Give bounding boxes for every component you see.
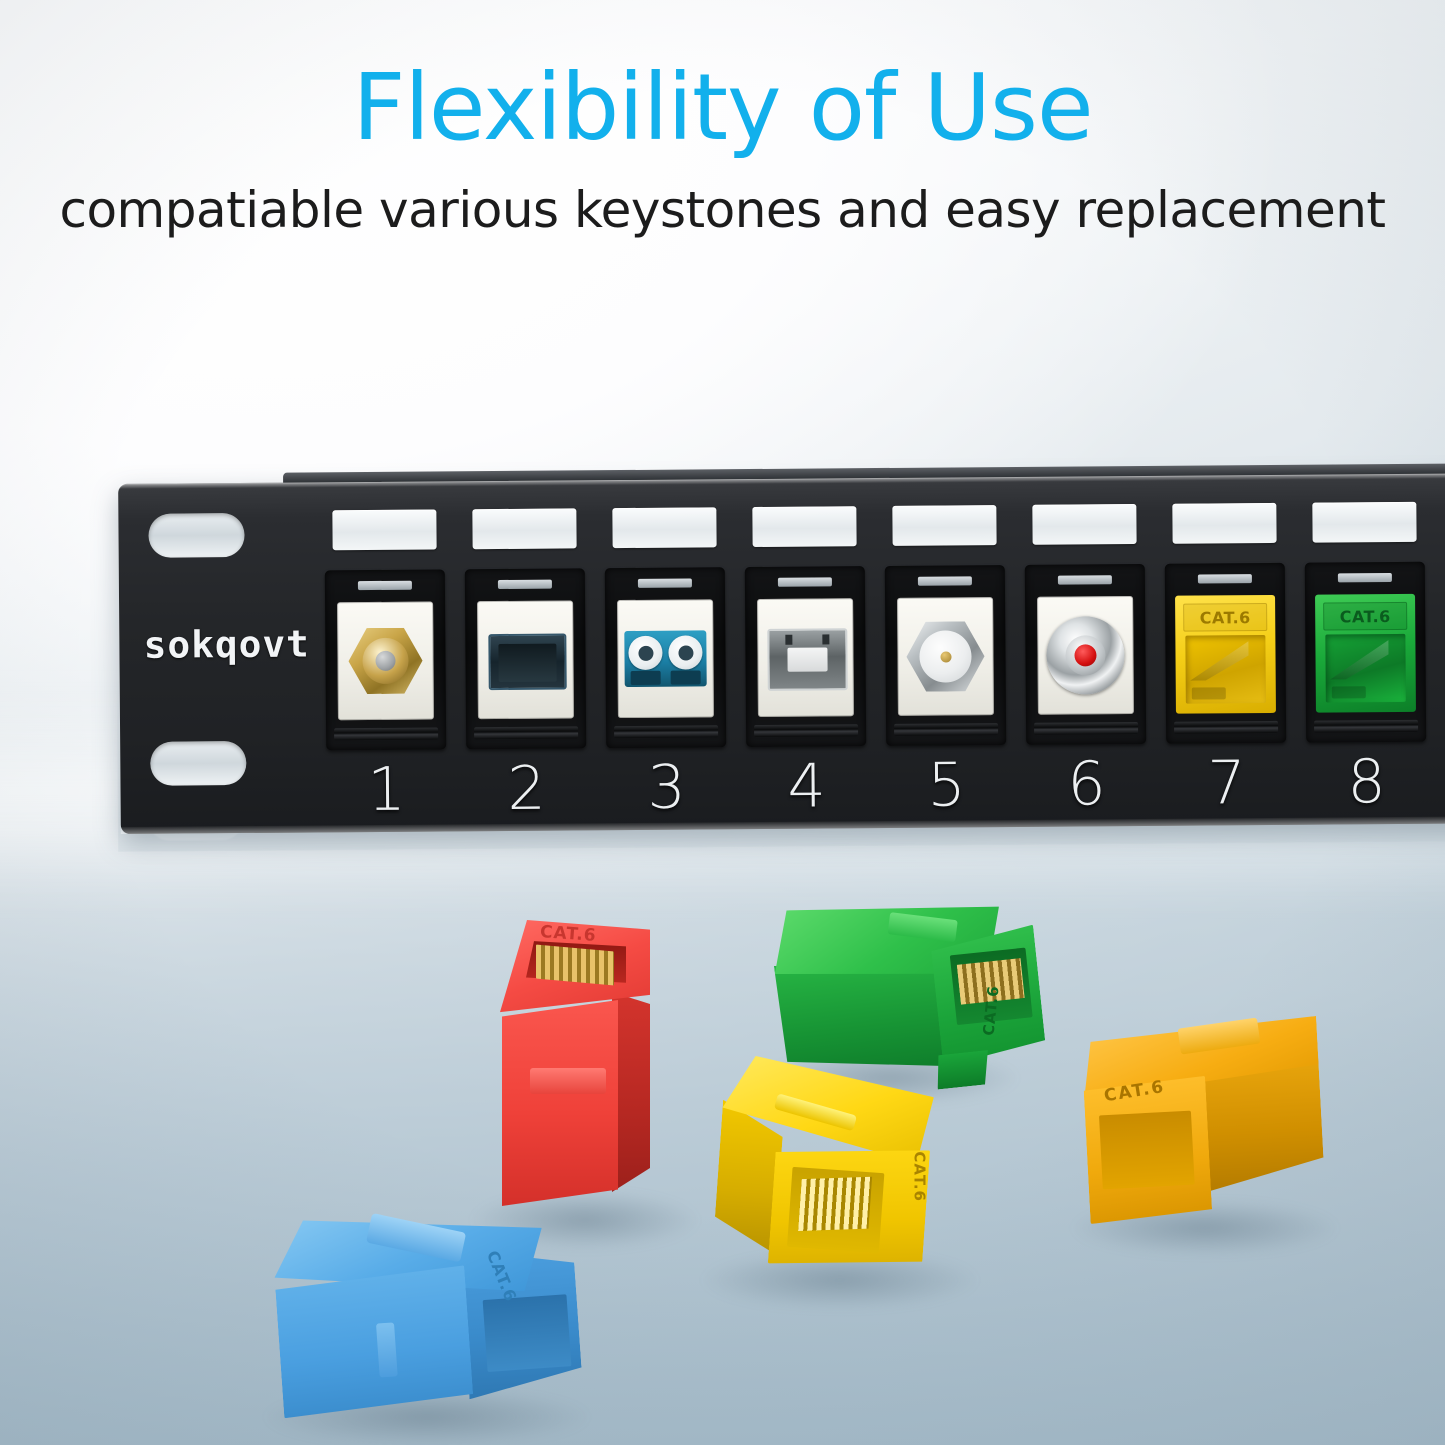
lc-adapter-body: [624, 630, 706, 687]
rack-mount-slot-top: [148, 513, 244, 558]
jack-latch-tab: [530, 1068, 606, 1094]
port-number: 1: [316, 759, 456, 820]
port-7[interactable]: CAT.6 7: [1154, 475, 1297, 826]
fiber-slot: [498, 644, 556, 682]
keystone-shell: CAT.6: [1165, 563, 1286, 744]
label-strip[interactable]: [1032, 504, 1136, 545]
lc-duplex-icon: [617, 599, 714, 718]
rca-icon: [1037, 596, 1134, 715]
patch-panel: sokqovt 1: [118, 457, 1445, 850]
coax-nut: [906, 621, 985, 692]
jack-front-face: [275, 1265, 474, 1418]
keystone-shell: [745, 566, 866, 747]
label-strip[interactable]: [472, 508, 576, 549]
sc-fiber-icon: [477, 600, 574, 719]
usb-b-body: [767, 628, 847, 691]
usb-notch-left: [785, 635, 792, 645]
label-strip[interactable]: [332, 510, 436, 551]
rj45-mouth: [483, 1294, 572, 1372]
label-strip[interactable]: [1312, 502, 1416, 543]
rj45-gold-pins: [536, 945, 614, 986]
coax-pin: [375, 651, 395, 671]
jack-side-nub: [376, 1322, 398, 1377]
coax-nut: [348, 628, 423, 695]
fiber-adapter-body: [488, 633, 566, 690]
coax-pin: [940, 651, 951, 662]
cat-label: CAT.6: [1323, 602, 1407, 631]
keystone-shell: [465, 568, 586, 749]
lc-ferrule-left: [628, 636, 662, 670]
lc-ferrule-right: [668, 635, 702, 669]
port-8[interactable]: CAT.6 8: [1294, 474, 1437, 825]
keystone-shell: [605, 567, 726, 748]
lc-foot-left: [631, 671, 661, 685]
heading-block: Flexibility of Use compatiable various k…: [0, 0, 1445, 237]
keystone-jack-yellow[interactable]: CAT.6: [710, 1054, 965, 1300]
usb-b-icon: [757, 598, 854, 717]
port-6[interactable]: 6: [1014, 476, 1157, 827]
keystone-shell: [885, 565, 1006, 746]
port-number: 8: [1296, 752, 1436, 813]
page-subtitle: compatiable various keystones and easy r…: [0, 154, 1445, 237]
port-3[interactable]: 3: [594, 479, 737, 830]
port-2[interactable]: 2: [454, 480, 597, 831]
cat-label: CAT.6: [910, 1151, 928, 1202]
rj45-keystone-green: CAT.6: [1315, 594, 1416, 713]
scene: Flexibility of Use compatiable various k…: [0, 0, 1445, 1445]
rj45-gold-pins: [798, 1177, 872, 1231]
usb-tongue: [787, 647, 827, 671]
usb-notch-right: [822, 634, 829, 644]
port-4[interactable]: 4: [734, 478, 877, 829]
port-number: 3: [596, 757, 736, 818]
jack-front-face: [502, 1000, 618, 1206]
coax-silver-icon: [897, 597, 994, 716]
rack-mount-slot-bottom: [150, 741, 246, 786]
rca-red-center: [1074, 644, 1096, 666]
port-number: 6: [1016, 754, 1156, 815]
label-strip[interactable]: [1172, 503, 1276, 544]
coax-gold-icon: [337, 602, 434, 721]
rj45-mouth: [1185, 635, 1266, 704]
port-number: 4: [736, 756, 876, 817]
label-strip[interactable]: [892, 505, 996, 546]
port-5[interactable]: 5: [874, 477, 1017, 828]
rj45-mouth: [1325, 634, 1406, 703]
keystone-shell: [325, 569, 446, 750]
panel-body: sokqovt 1: [118, 473, 1445, 834]
keystone-shell: [1025, 564, 1146, 745]
rj45-keystone-yellow: CAT.6: [1175, 595, 1276, 714]
keystone-shell: CAT.6: [1305, 562, 1426, 743]
lc-foot-right: [671, 670, 701, 684]
brand-logo: sokqovt: [143, 622, 322, 666]
rca-body: [1046, 616, 1125, 695]
keystone-jack-orange[interactable]: CAT.6: [1080, 1016, 1327, 1248]
port-number: 2: [456, 758, 596, 819]
keystone-jack-blue[interactable]: CAT.6: [271, 1202, 586, 1442]
port-row: 1 2: [314, 473, 1445, 832]
port-number: 7: [1156, 753, 1296, 814]
rj45-mouth: [1099, 1111, 1195, 1190]
page-title: Flexibility of Use: [0, 0, 1445, 154]
port-1[interactable]: 1: [314, 481, 457, 832]
keystone-jack-red[interactable]: CAT.6: [500, 920, 650, 1220]
label-strip[interactable]: [752, 506, 856, 547]
port-number: 5: [876, 755, 1016, 816]
cat-label: CAT.6: [1183, 603, 1267, 632]
label-strip[interactable]: [612, 507, 716, 548]
